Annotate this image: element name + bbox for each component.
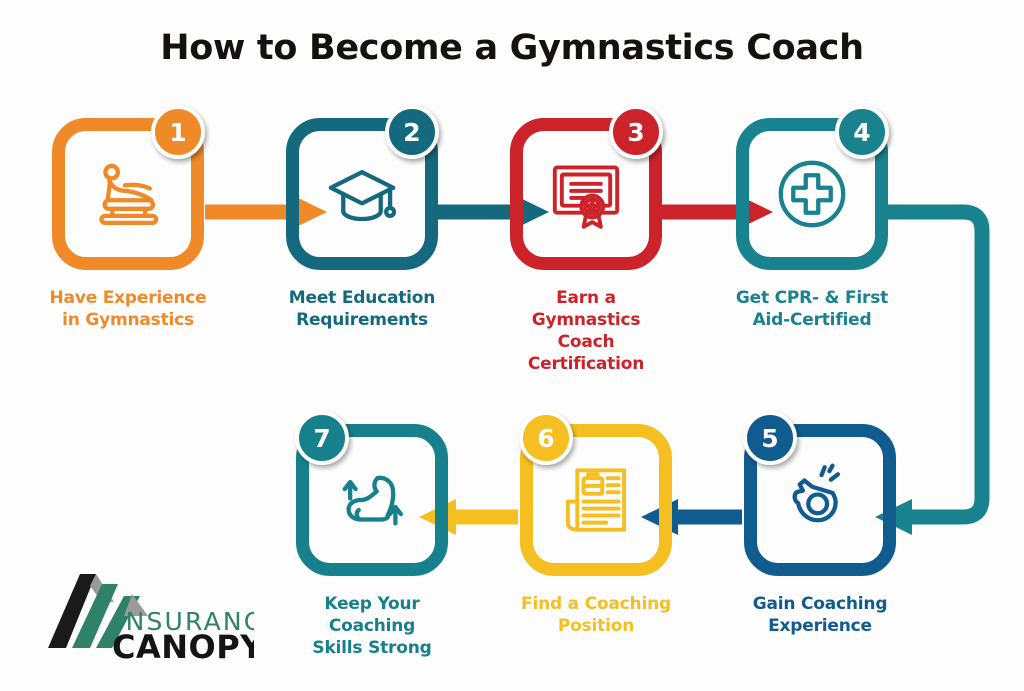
step-1-badge: 1 [151,105,205,159]
step-card-4[interactable]: 4 Get CPR- & First Aid-Certified [726,118,898,331]
logo-text-canopy: CANOPY [112,628,254,666]
step-6-number: 6 [537,424,554,453]
step-card-1[interactable]: 1 Have Experience in Gymnastics [42,118,214,331]
step-1-caption: Have Experience in Gymnastics [42,287,214,331]
step-1-label-line2: in Gymnastics [42,309,214,331]
step-2-caption: Meet Education Requirements [276,287,448,331]
job-listing-briefcase-icon [557,461,635,539]
step-7-caption: Keep Your Coaching Skills Strong [286,593,458,659]
medical-cross-circle-icon [773,155,851,233]
step-6-label-line1: Find a Coaching [510,593,682,615]
insurance-canopy-logo[interactable]: INSURANCE CANOPY [44,556,254,668]
step-card-5[interactable]: 5 Gain Coaching Experience [734,424,906,637]
step-3-number: 3 [627,118,644,147]
step-2-frame: 2 [286,118,438,270]
step-2-number: 2 [403,118,420,147]
certificate-award-icon [547,155,625,233]
step-3-label-line2: Coach Certification [500,331,672,375]
step-1-frame: 1 [52,118,204,270]
step-4-frame: 4 [736,118,888,270]
step-7-badge: 7 [295,411,349,465]
graduation-cap-icon [323,155,401,233]
step-5-badge: 5 [743,411,797,465]
step-5-label-line1: Gain Coaching [734,593,906,615]
step-5-caption: Gain Coaching Experience [734,593,906,637]
step-3-badge: 3 [609,105,663,159]
step-2-badge: 2 [385,105,439,159]
step-card-2[interactable]: 2 Meet Education Requirements [276,118,448,331]
step-7-label-line1: Keep Your Coaching [286,593,458,637]
step-5-number: 5 [761,424,778,453]
step-1-number: 1 [169,118,186,147]
step-card-6[interactable]: 6 Find a Coaching Position [510,424,682,637]
step-7-number: 7 [313,424,330,453]
step-2-label-line1: Meet Education [276,287,448,309]
step-7-label-line2: Skills Strong [286,637,458,659]
infographic-canvas: How to Become a Gymnastics Coach [0,0,1024,691]
step-7-frame: 7 [296,424,448,576]
step-6-frame: 6 [520,424,672,576]
step-3-frame: 3 [510,118,662,270]
whistle-icon [781,461,859,539]
step-2-label-line2: Requirements [276,309,448,331]
step-6-label-line2: Position [510,615,682,637]
step-6-badge: 6 [519,411,573,465]
step-6-caption: Find a Coaching Position [510,593,682,637]
step-4-label-line2: Aid-Certified [726,309,898,331]
step-card-3[interactable]: 3 Earn a Gymnastics Coach Certification [500,118,672,375]
step-5-frame: 5 [744,424,896,576]
step-3-label-line1: Earn a Gymnastics [500,287,672,331]
step-4-number: 4 [853,118,870,147]
step-4-badge: 4 [835,105,889,159]
flexing-arm-strength-icon [333,461,411,539]
page-title: How to Become a Gymnastics Coach [0,28,1024,68]
step-4-label-line1: Get CPR- & First [726,287,898,309]
step-3-caption: Earn a Gymnastics Coach Certification [500,287,672,375]
step-4-caption: Get CPR- & First Aid-Certified [726,287,898,331]
step-card-7[interactable]: 7 Keep Your Coaching Skills Strong [286,424,458,659]
step-5-label-line2: Experience [734,615,906,637]
gymnast-pommel-horse-icon [89,155,167,233]
step-1-label-line1: Have Experience [42,287,214,309]
